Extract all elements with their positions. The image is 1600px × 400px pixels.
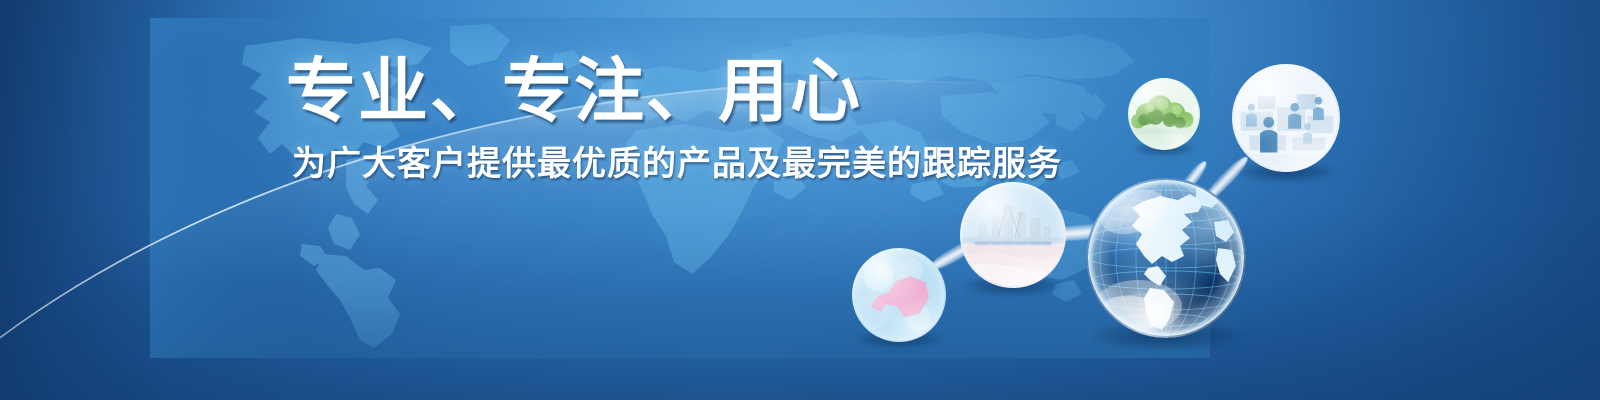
- banner-headline: 专业、专注、用心: [286, 56, 1046, 127]
- promo-banner: 专业、专注、用心 为广大客户提供最优质的产品及最完美的跟踪服务: [0, 0, 1600, 400]
- banner-copy: 专业、专注、用心 为广大客户提供最优质的产品及最完美的跟踪服务: [286, 56, 1046, 184]
- banner-subtitle: 为广大客户提供最优质的产品及最完美的跟踪服务: [292, 145, 1046, 184]
